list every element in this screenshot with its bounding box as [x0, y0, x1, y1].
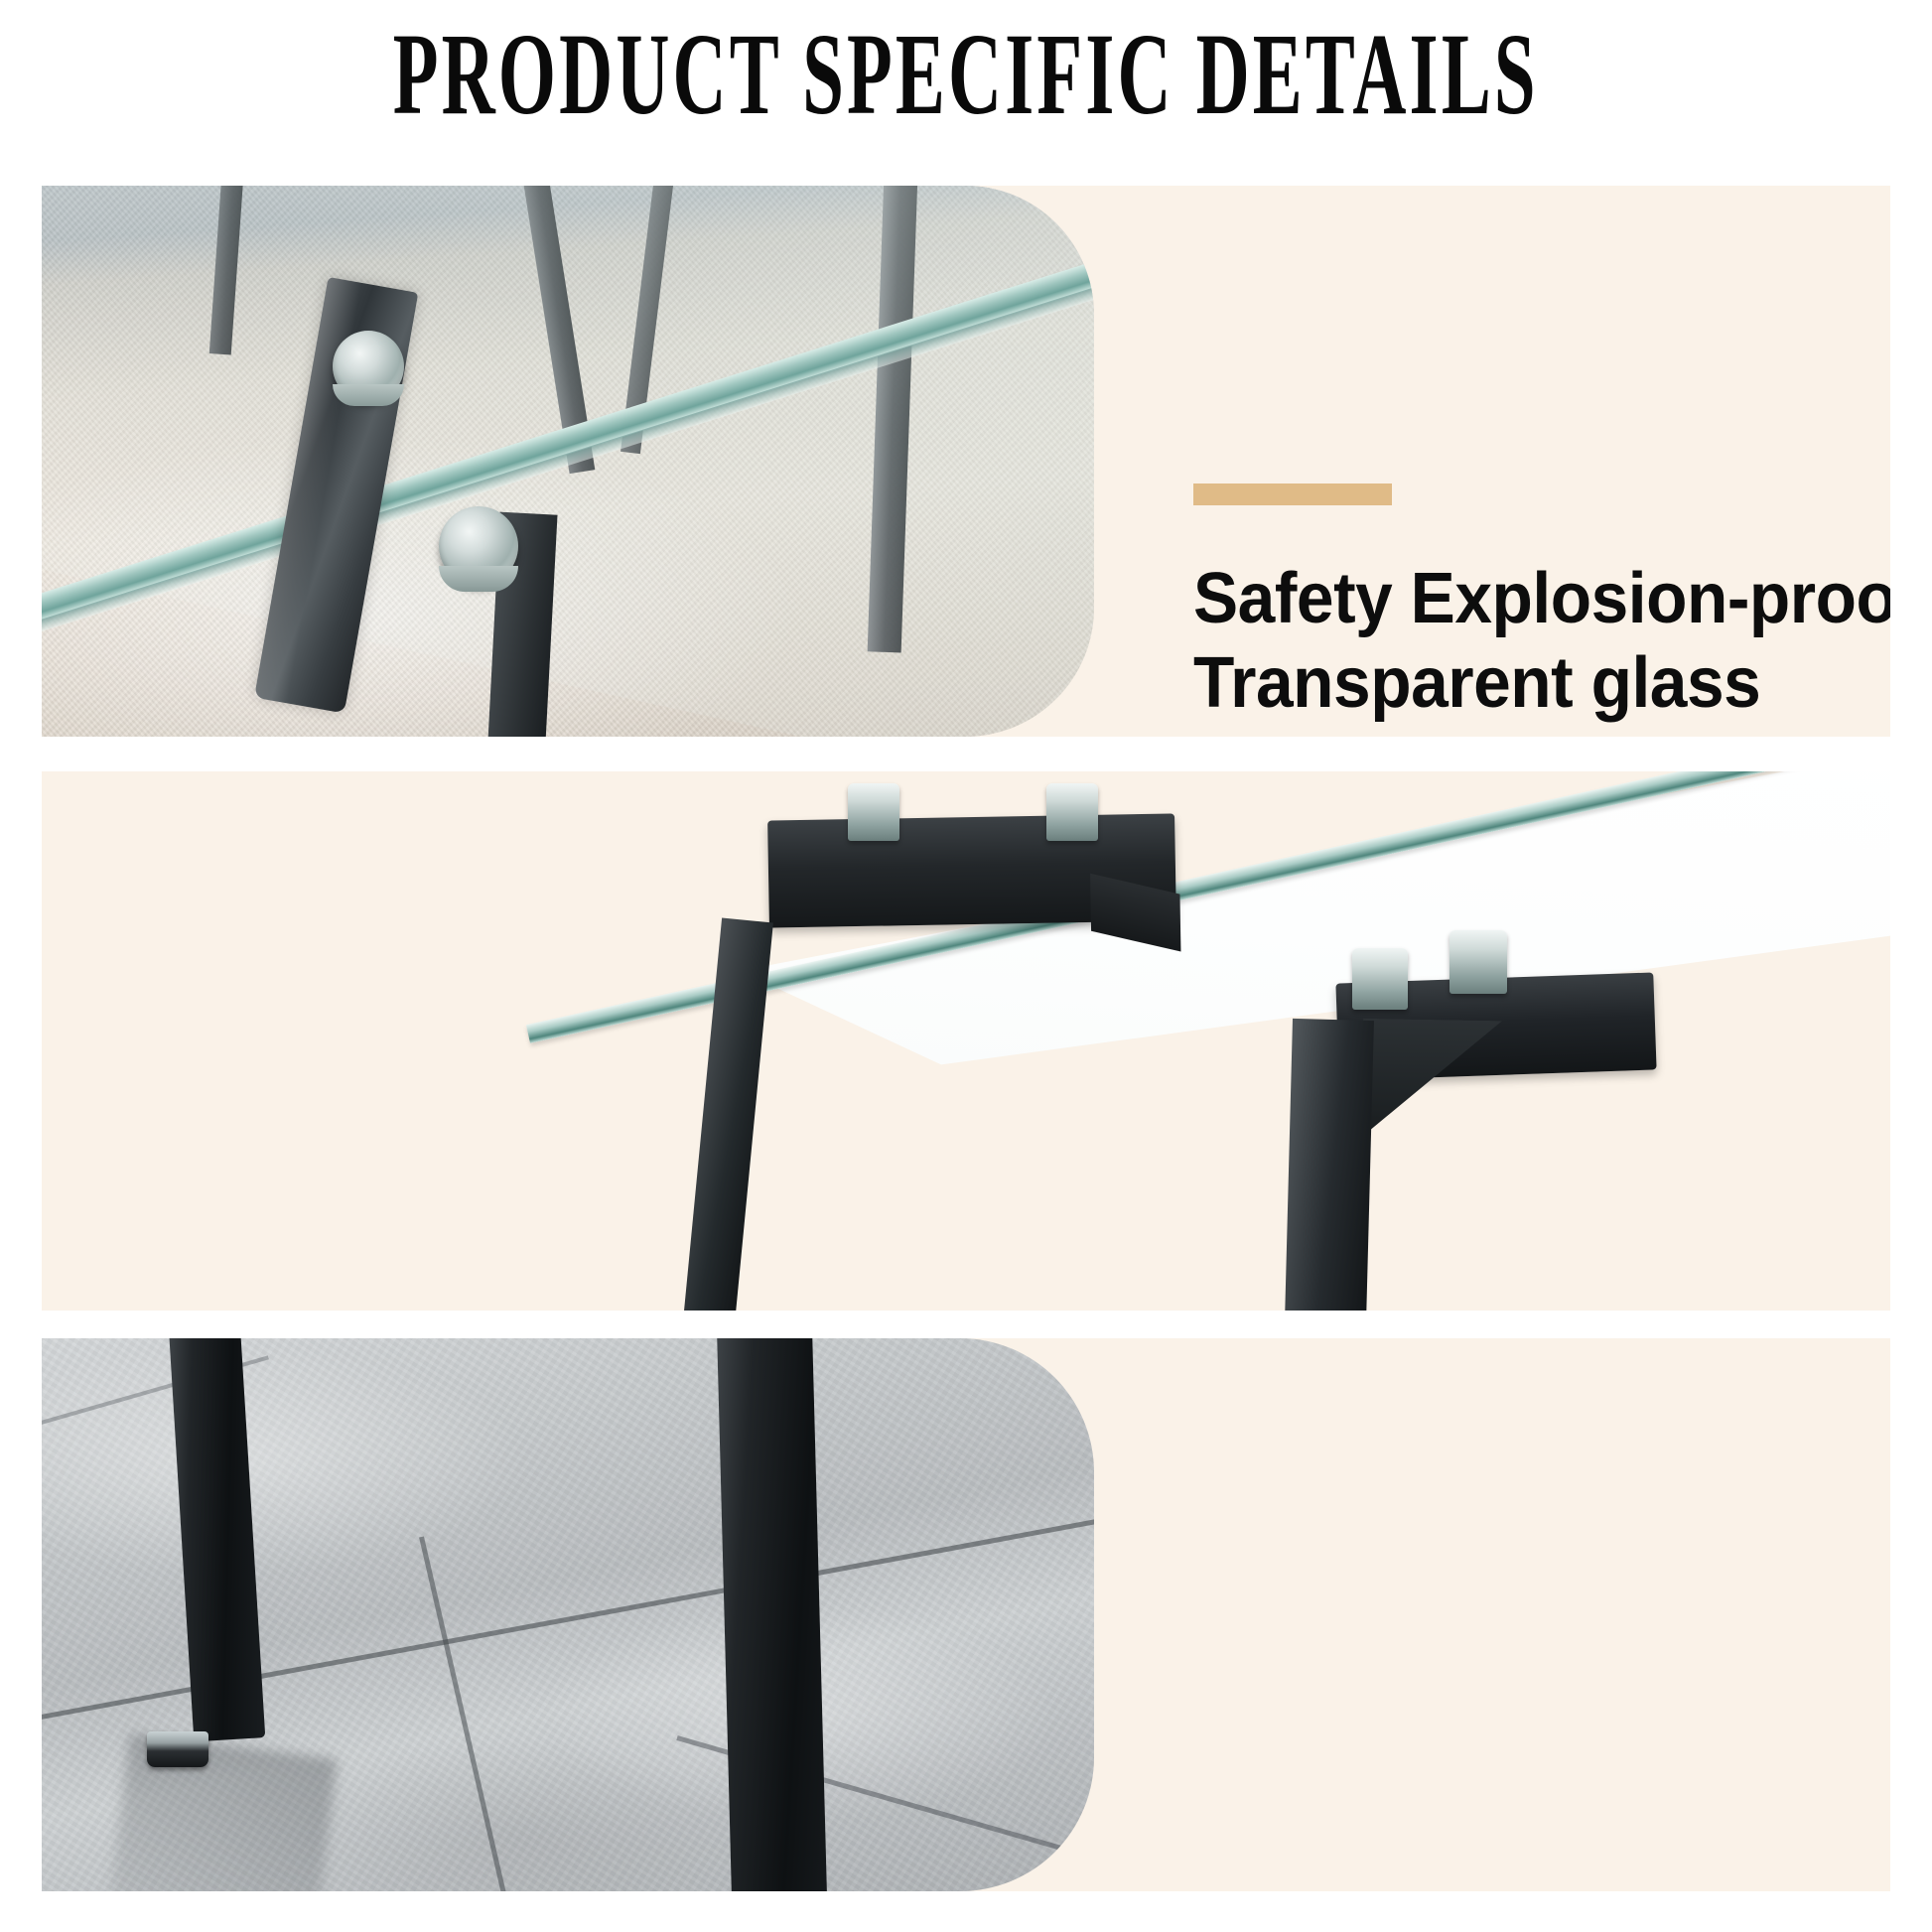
page-title: PRODUCT SPECIFIC DETAILS	[393, 16, 1539, 132]
table-leg	[1284, 1019, 1374, 1311]
product-photo-anti-slip-feet	[42, 1338, 1094, 1891]
page-header: PRODUCT SPECIFIC DETAILS	[0, 0, 1932, 149]
product-photo-metal-frame	[340, 771, 1890, 1311]
headline-line: Transparent glass	[1193, 641, 1874, 726]
chrome-bolt-cap	[1449, 930, 1507, 994]
anti-slip-foot-cap	[147, 1731, 208, 1767]
feature-headline: Safety Explosion-proof Transparent glass	[1193, 557, 1874, 726]
leg-shadow	[94, 1733, 338, 1891]
leg-bracket-flare	[1361, 1019, 1502, 1140]
chrome-bolt-cap	[439, 506, 518, 586]
feature-panel-metal-frame: Sturdy & Beautiful Metal Frame Support	[42, 771, 1890, 1311]
feature-text-block-safety-glass: Safety Explosion-proof Transparent glass	[1193, 483, 1890, 726]
feature-panel-safety-glass: Safety Explosion-proof Transparent glass	[42, 186, 1890, 737]
product-photo-glass-tabletop	[42, 186, 1094, 737]
chrome-bolt-cap	[333, 331, 404, 402]
headline-line: Safety Explosion-proof	[1193, 557, 1874, 641]
chrome-bolt-cap	[1046, 783, 1098, 841]
chrome-bolt-cap	[1352, 948, 1408, 1010]
table-leg	[682, 918, 773, 1311]
metal-frame-bracket	[767, 813, 1176, 927]
chrome-bolt-cap	[848, 783, 899, 841]
feature-panel-foot-mats: Stable & durable Anti-Slip Foot Mats	[42, 1338, 1890, 1891]
accent-bar	[1193, 483, 1392, 505]
